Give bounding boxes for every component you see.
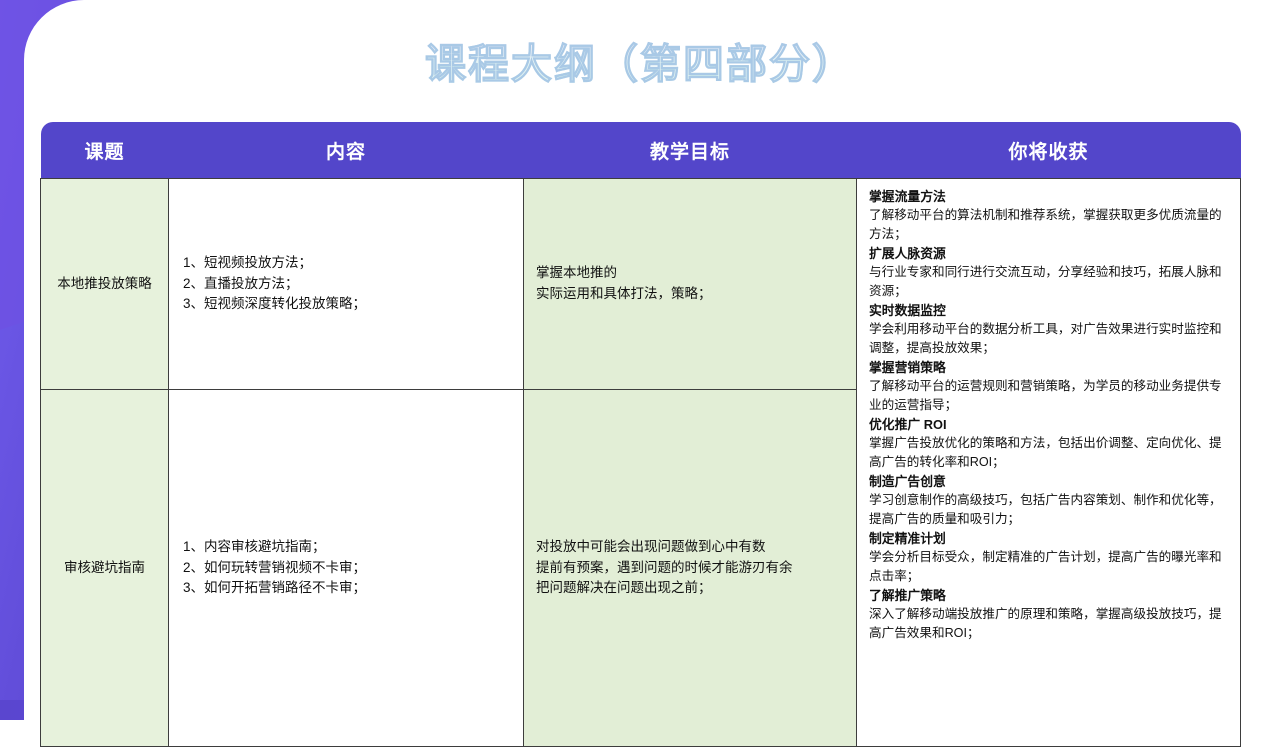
gain-block: 制造广告创意 学习创意制作的高级技巧，包括广告内容策划、制作和优化等，提高广告的… (869, 472, 1230, 529)
gain-heading: 了解推广策略 (869, 586, 1230, 605)
gain-body: 学习创意制作的高级技巧，包括广告内容策划、制作和优化等，提高广告的质量和吸引力； (869, 491, 1230, 529)
gain-body: 了解移动平台的算法机制和推荐系统，掌握获取更多优质流量的方法； (869, 206, 1230, 244)
goal-line: 实际运用和具体打法，策略； (536, 284, 844, 305)
gain-heading: 制定精准计划 (869, 529, 1230, 548)
gain-heading: 制造广告创意 (869, 472, 1230, 491)
table-body: 本地推投放策略 1、短视频投放方法； 2、直播投放方法； 3、短视频深度转化投放… (41, 179, 1241, 747)
header-row: 课题 内容 教学目标 你将收获 (41, 122, 1241, 179)
gain-body: 了解移动平台的运营规则和营销策略，为学员的移动业务提供专业的运营指导； (869, 377, 1230, 415)
goal-cell-2: 对投放中可能会出现问题做到心中有数 提前有预案，遇到问题的时候才能游刃有余 把问… (524, 390, 857, 747)
gain-body: 与行业专家和同行进行交流互动，分享经验和技巧，拓展人脉和资源； (869, 263, 1230, 301)
goal-line: 把问题解决在问题出现之前； (536, 578, 844, 599)
gain-block: 扩展人脉资源 与行业专家和同行进行交流互动，分享经验和技巧，拓展人脉和资源； (869, 244, 1230, 301)
content-line: 2、如何玩转营销视频不卡审； (183, 558, 509, 579)
column-header-content: 内容 (169, 122, 524, 179)
gain-block: 掌握流量方法 了解移动平台的算法机制和推荐系统，掌握获取更多优质流量的方法； (869, 187, 1230, 244)
goal-line: 提前有预案，遇到问题的时候才能游刃有余 (536, 558, 844, 579)
goal-cell-1: 掌握本地推的 实际运用和具体打法，策略； (524, 179, 857, 390)
gain-block: 制定精准计划 学会分析目标受众，制定精准的广告计划，提高广告的曝光率和点击率； (869, 529, 1230, 586)
content-line: 1、内容审核避坑指南； (183, 537, 509, 558)
column-header-gain: 你将收获 (857, 122, 1241, 179)
gain-cell: 掌握流量方法 了解移动平台的算法机制和推荐系统，掌握获取更多优质流量的方法； 扩… (857, 179, 1241, 747)
gain-block: 掌握营销策略 了解移动平台的运营规则和营销策略，为学员的移动业务提供专业的运营指… (869, 358, 1230, 415)
topic-cell-2: 审核避坑指南 (41, 390, 169, 747)
gain-block: 实时数据监控 学会利用移动平台的数据分析工具，对广告效果进行实时监控和调整，提高… (869, 301, 1230, 358)
gain-block: 了解推广策略 深入了解移动端投放推广的原理和策略，掌握高级投放技巧，提高广告效果… (869, 586, 1230, 643)
goal-line: 对投放中可能会出现问题做到心中有数 (536, 537, 844, 558)
gain-block: 优化推广 ROI 掌握广告投放优化的策略和方法，包括出价调整、定向优化、提高广告… (869, 415, 1230, 472)
course-outline-table: 课题 内容 教学目标 你将收获 本地推投放策略 1、短视频投放方法； 2、直播投… (40, 122, 1241, 747)
gain-body: 学会分析目标受众，制定精准的广告计划，提高广告的曝光率和点击率； (869, 548, 1230, 586)
content-cell-1: 1、短视频投放方法； 2、直播投放方法； 3、短视频深度转化投放策略； (169, 179, 524, 390)
gain-body: 掌握广告投放优化的策略和方法，包括出价调整、定向优化、提高广告的转化率和ROI； (869, 434, 1230, 472)
gain-body: 深入了解移动端投放推广的原理和策略，掌握高级投放技巧，提高广告效果和ROI； (869, 605, 1230, 643)
gain-heading: 掌握营销策略 (869, 358, 1230, 377)
topic-cell-1: 本地推投放策略 (41, 179, 169, 390)
content-line: 1、短视频投放方法； (183, 253, 509, 274)
gain-heading: 掌握流量方法 (869, 187, 1230, 206)
content-line: 2、直播投放方法； (183, 274, 509, 295)
gain-heading: 扩展人脉资源 (869, 244, 1230, 263)
column-header-goal: 教学目标 (524, 122, 857, 179)
gain-body: 学会利用移动平台的数据分析工具，对广告效果进行实时监控和调整，提高投放效果； (869, 320, 1230, 358)
gain-heading: 实时数据监控 (869, 301, 1230, 320)
goal-line: 掌握本地推的 (536, 263, 844, 284)
table-row: 本地推投放策略 1、短视频投放方法； 2、直播投放方法； 3、短视频深度转化投放… (41, 179, 1241, 390)
table-header: 课题 内容 教学目标 你将收获 (41, 122, 1241, 179)
content-line: 3、如何开拓营销路径不卡审； (183, 578, 509, 599)
content-cell-2: 1、内容审核避坑指南； 2、如何玩转营销视频不卡审； 3、如何开拓营销路径不卡审… (169, 390, 524, 747)
gain-heading: 优化推广 ROI (869, 415, 1230, 434)
content-line: 3、短视频深度转化投放策略； (183, 294, 509, 315)
column-header-topic: 课题 (41, 122, 169, 179)
